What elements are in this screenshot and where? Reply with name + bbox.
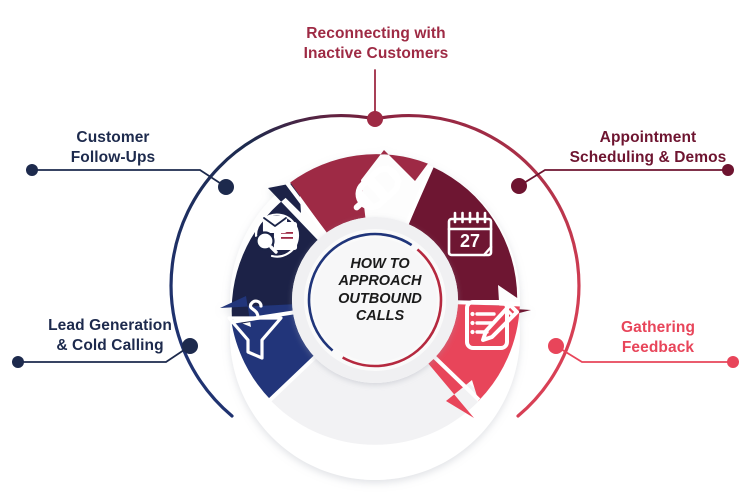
connector-top-left: [32, 170, 226, 187]
label-gathering-feedback[interactable]: Gathering Feedback: [578, 318, 738, 358]
infographic-canvas: 27: [0, 0, 750, 500]
dot-bottom-right: [548, 338, 564, 354]
dot-end-top-left: [26, 164, 38, 176]
label-reconnecting-inactive-customers[interactable]: Reconnecting with Inactive Customers: [280, 24, 472, 64]
dot-top-left: [218, 179, 234, 195]
label-customer-follow-ups[interactable]: Customer Follow-Ups: [38, 128, 188, 168]
calendar-day-number: 27: [460, 231, 480, 251]
connector-top-right: [519, 170, 728, 186]
label-lead-generation-cold-calling[interactable]: Lead Generation & Cold Calling: [20, 316, 200, 356]
dot-top-right: [511, 178, 527, 194]
label-appointment-scheduling-demos[interactable]: Appointment Scheduling & Demos: [548, 128, 748, 168]
wheel-diagram: 27: [0, 0, 750, 500]
dot-end-bottom-right: [727, 356, 739, 368]
center-title: HOW TO APPROACH OUTBOUND CALLS: [318, 256, 442, 326]
dot-end-bottom-left: [12, 356, 24, 368]
dot-top: [367, 111, 383, 127]
